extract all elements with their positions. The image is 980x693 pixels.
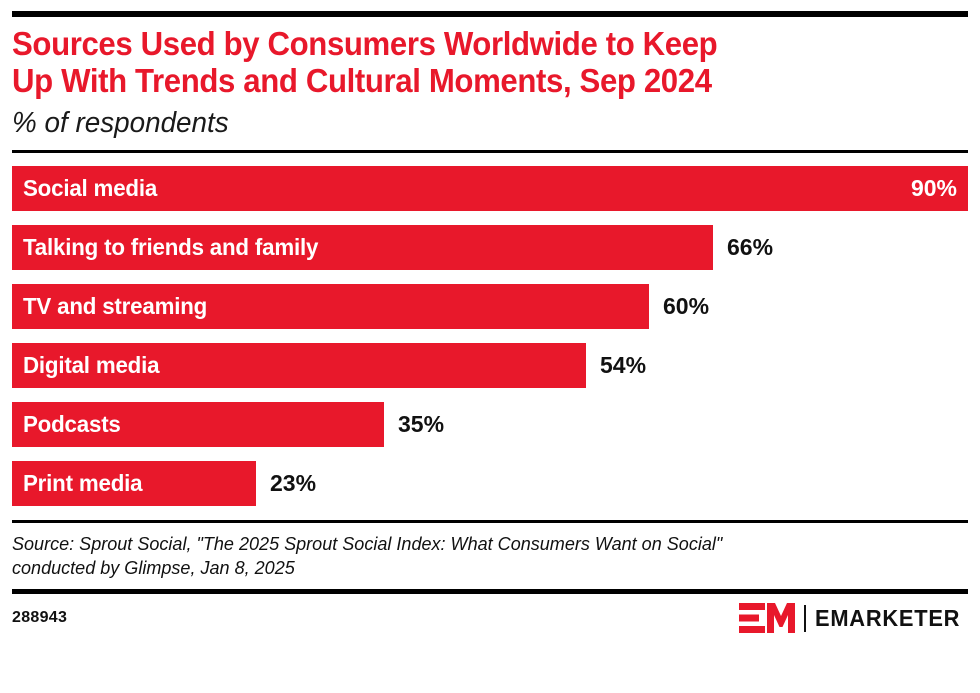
footer: 288943 EMARKETER [12,603,968,633]
logo-divider [804,605,806,632]
bar-segment: Print media [12,461,256,506]
chart-card: Sources Used by Consumers Worldwide to K… [0,11,980,693]
source-divider-rule [12,520,968,523]
bar-value-label: 23% [270,470,316,497]
bar-segment: Talking to friends and family [12,225,713,270]
footer-rule [12,589,968,594]
emarketer-logo: EMARKETER [739,603,968,633]
bar-chart-plot: Social media90%Talking to friends and fa… [12,166,968,506]
bar-category-label: Print media [23,470,142,497]
bar-category-label: Podcasts [23,411,121,438]
header-divider-rule [12,150,968,153]
logo-wordmark: EMARKETER [815,605,960,632]
source-note: Source: Sprout Social, "The 2025 Sprout … [12,532,944,580]
bar-category-label: Social media [23,175,157,202]
chart-id: 288943 [12,609,67,627]
bar-segment: TV and streaming [12,284,649,329]
bar-segment: Digital media [12,343,586,388]
bar-value-label: 66% [727,234,773,261]
bar-value-label: 35% [398,411,444,438]
bar-value-label: 60% [663,293,709,320]
em-monogram-icon [739,603,795,633]
bar-category-label: TV and streaming [23,293,207,320]
bar-row: TV and streaming60% [12,284,968,329]
bar-value-label: 90% [911,175,957,202]
top-rule [12,11,968,17]
bar-row: Print media23% [12,461,968,506]
bar-row: Podcasts35% [12,402,968,447]
page-title: Sources Used by Consumers Worldwide to K… [12,26,901,100]
bar-segment: Podcasts [12,402,384,447]
bar-category-label: Digital media [23,352,159,379]
bar-row: Digital media54% [12,343,968,388]
bar-category-label: Talking to friends and family [23,234,318,261]
bar-value-label: 54% [600,352,646,379]
bar-row: Talking to friends and family66% [12,225,968,270]
bar-segment: Social media90% [12,166,968,211]
bar-row: Social media90% [12,166,968,211]
chart-subtitle: % of respondents [12,106,930,140]
